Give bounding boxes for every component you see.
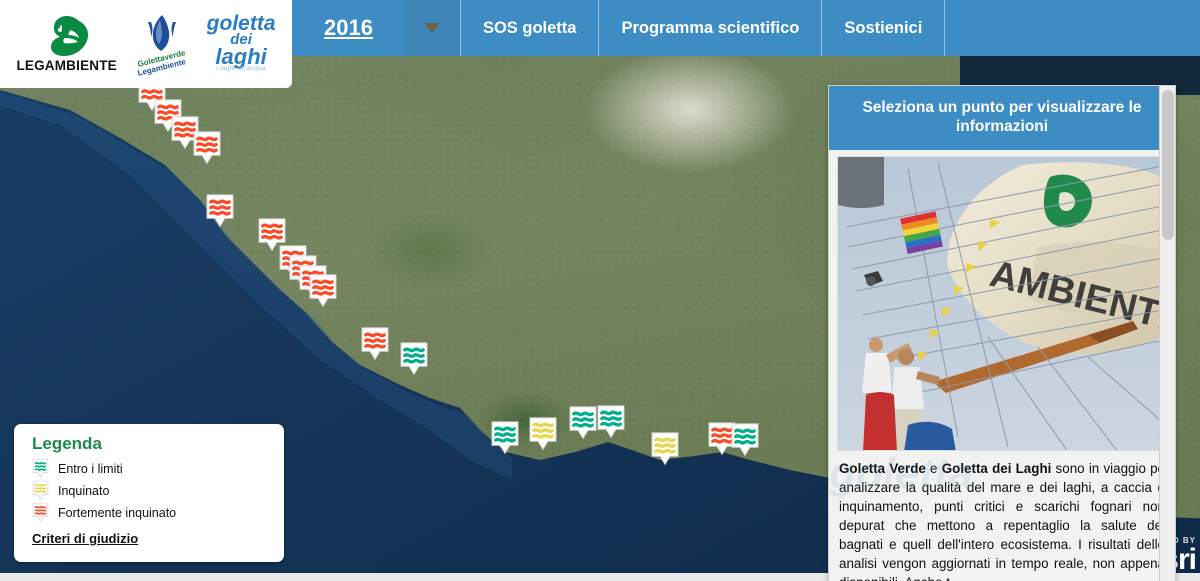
nav-item-sostienici[interactable]: Sostienici xyxy=(822,0,945,56)
map-marker-red[interactable] xyxy=(192,130,222,172)
legend-panel: Legenda Entro i limiti Inquinato xyxy=(14,424,284,562)
main-navigation: 2016 SOS goletta Programma scientifico S… xyxy=(292,0,945,56)
legend-item-fortemente-inquinato: Fortemente inquinato xyxy=(32,502,268,523)
chevron-down-icon xyxy=(424,23,440,33)
goletta-verde-logo[interactable]: Golettaverde Legambiente xyxy=(130,14,194,72)
info-panel: Seleziona un punto per visualizzare le i… xyxy=(828,85,1176,581)
legambiente-logo[interactable]: LEGAMBIENTE xyxy=(16,14,116,73)
map-marker-green[interactable] xyxy=(399,341,429,383)
criteri-di-giudizio-link[interactable]: Criteri di giudizio xyxy=(32,531,138,546)
nav-item-year[interactable]: 2016 xyxy=(292,0,405,56)
nav-item-sos-goletta[interactable]: SOS goletta xyxy=(461,0,600,56)
map-marker-red[interactable] xyxy=(308,273,338,315)
info-panel-scrollbar[interactable] xyxy=(1159,86,1175,581)
wave-marker-icon-green xyxy=(32,458,49,479)
goletta-dei-laghi-line-3: laghi xyxy=(215,47,266,67)
map-marker-green[interactable] xyxy=(730,422,760,464)
info-panel-photo: AMBIENTE xyxy=(837,156,1167,451)
map-marker-yellow[interactable] xyxy=(528,416,558,458)
legend-label-entro-i-limiti: Entro i limiti xyxy=(58,462,123,476)
map-marker-green[interactable] xyxy=(568,405,598,447)
year-dropdown-button[interactable] xyxy=(405,0,461,56)
nav-item-programma-scientifico[interactable]: Programma scientifico xyxy=(599,0,822,56)
info-body-bold-1: Goletta Verde xyxy=(839,461,926,476)
legend-item-entro-i-limiti: Entro i limiti xyxy=(32,458,268,479)
map-marker-green[interactable] xyxy=(490,420,520,462)
goletta-dei-laghi-tagline: i laghi all'acqua xyxy=(216,67,265,73)
info-panel-body: goletta Goletta Verde e Goletta dei Lagh… xyxy=(829,451,1175,581)
legend-item-inquinato: Inquinato xyxy=(32,480,268,501)
wave-marker-icon-red xyxy=(32,502,49,523)
goletta-dei-laghi-logo[interactable]: goletta dei laghi i laghi all'acqua xyxy=(207,14,276,73)
map-marker-red[interactable] xyxy=(205,193,235,235)
legambiente-wordmark: LEGAMBIENTE xyxy=(16,58,116,73)
sailing-ship-photo: AMBIENTE xyxy=(838,157,1167,451)
info-body-rest: sono in viaggio pe analizzare la qualità… xyxy=(839,461,1165,581)
wave-marker-icon-yellow xyxy=(32,480,49,501)
legend-label-fortemente-inquinato: Fortemente inquinato xyxy=(58,506,176,520)
info-panel-title: Seleziona un punto per visualizzare le i… xyxy=(829,86,1175,150)
info-body-bold-2: Goletta dei Laghi xyxy=(942,461,1052,476)
legend-label-inquinato: Inquinato xyxy=(58,484,109,498)
scrollbar-thumb[interactable] xyxy=(1162,90,1174,240)
legend-title: Legenda xyxy=(32,434,268,454)
goletta-dei-laghi-line-1: goletta xyxy=(207,14,276,33)
info-body-mid-1: e xyxy=(926,461,942,476)
map-marker-red[interactable] xyxy=(360,326,390,368)
map-marker-green[interactable] xyxy=(596,404,626,446)
logo-panel: LEGAMBIENTE Golettaverde Legambiente gol… xyxy=(0,0,292,88)
map-application: POWERED BY esri LEGAMBIENTE Golettaverde xyxy=(0,0,1200,581)
swan-logo-icon xyxy=(37,14,97,56)
map-marker-yellow[interactable] xyxy=(650,431,680,473)
